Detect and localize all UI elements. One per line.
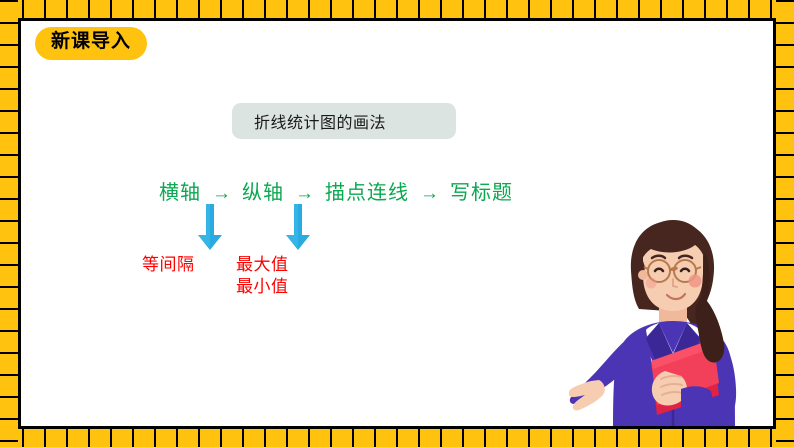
note-hengzhou-line-1: 等间隔	[142, 254, 195, 276]
note-hengzhou: 等间隔	[142, 254, 195, 276]
frame-band-bottom	[0, 429, 794, 447]
frame-band-top	[0, 0, 794, 18]
note-zongzhou-line-1: 最大值	[236, 254, 289, 276]
note-zongzhou-line-2: 最小值	[236, 276, 289, 298]
teacher-character-illustration	[569, 213, 773, 426]
flow-step-miaodianlianxian: 描点连线	[325, 176, 409, 205]
flow-step-xiebiaoti: 写标题	[450, 176, 513, 205]
slide-content-area: 新课导入 折线统计图的画法 横轴 → 纵轴 → 描点连线 → 写标题	[21, 21, 773, 426]
note-zongzhou: 最大值 最小值	[236, 254, 289, 299]
flow-step-hengzhou: 横轴	[159, 176, 201, 205]
flow-diagram-row: 横轴 → 纵轴 → 描点连线 → 写标题	[159, 176, 513, 205]
flow-arrow-icon-3: →	[420, 184, 439, 203]
section-badge: 新课导入	[35, 27, 147, 60]
down-arrow-icon-zongzhou	[285, 204, 311, 251]
flow-arrow-icon-2: →	[295, 184, 314, 203]
frame-band-right	[776, 0, 794, 447]
flow-step-zongzhou: 纵轴	[242, 176, 284, 205]
down-arrow-icon-hengzhou	[197, 204, 223, 251]
topic-chip: 折线统计图的画法	[232, 103, 456, 139]
flow-arrow-icon-1: →	[212, 184, 231, 203]
frame-band-left	[0, 0, 18, 447]
slide-canvas: 新课导入 折线统计图的画法 横轴 → 纵轴 → 描点连线 → 写标题	[0, 0, 794, 447]
topic-chip-label: 折线统计图的画法	[254, 109, 386, 133]
